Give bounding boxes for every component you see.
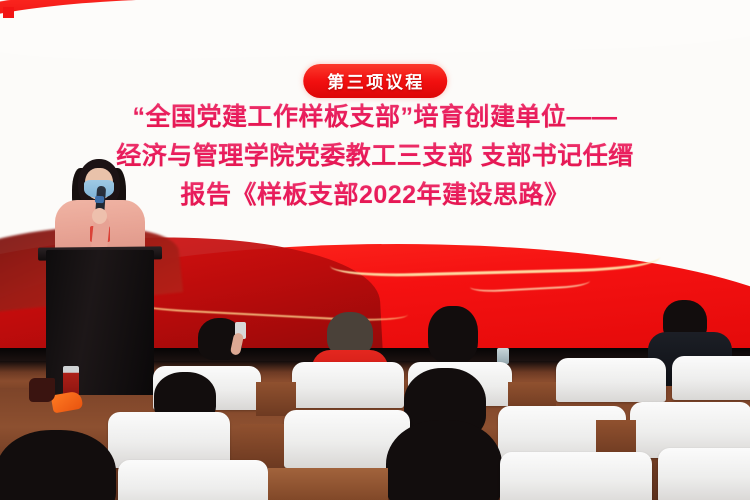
agenda-badge: 第三项议程 xyxy=(303,64,447,98)
attendee-foreground-center-head xyxy=(386,420,502,500)
conference-photo: 第三项议程 “全国党建工作样板支部”培育创建单位—— 经济与管理学院党委教工三支… xyxy=(0,0,750,500)
microphone-band xyxy=(95,196,104,204)
desk xyxy=(268,468,388,500)
chair xyxy=(658,448,750,500)
chair xyxy=(556,358,666,402)
screen-title-line-1: “全国党建工作样板支部”培育创建单位—— xyxy=(12,98,738,137)
chair xyxy=(672,356,750,400)
top-arc-mask xyxy=(0,0,750,64)
chair xyxy=(292,362,404,408)
attendee-long-hair-head xyxy=(428,306,478,364)
chair xyxy=(118,460,268,500)
chair xyxy=(500,452,652,500)
attendee-foreground-left-head xyxy=(0,430,116,500)
dark-object-stage-left xyxy=(29,378,55,402)
corner-square-decoration xyxy=(3,7,14,18)
speaker-hand xyxy=(92,208,107,224)
